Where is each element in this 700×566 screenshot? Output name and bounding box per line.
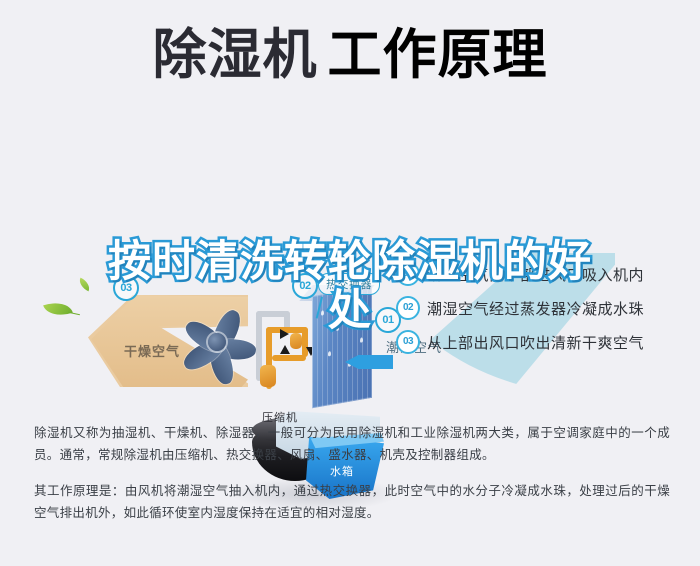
dry-air-label: 干燥空气 <box>124 341 180 360</box>
body-copy: 除湿机又称为抽湿机、干燥机、除湿器，一般可分为民用除湿机和工业除湿机两大类，属于… <box>34 422 670 532</box>
callout-tail-icon <box>330 291 340 298</box>
leaf-icon <box>77 278 93 292</box>
leaf-icon <box>43 297 73 320</box>
refrigerant-coil <box>256 311 320 403</box>
badge-03-illustration: 03 <box>113 275 139 301</box>
legend-text-03: 从上部出风口吹出清新干爽空气 <box>427 332 644 353</box>
evaporator-block <box>312 286 372 409</box>
legend-text-01: 潮湿空气由下部进风口吸入机内 <box>427 264 644 285</box>
legend-list: 01 潮湿空气由下部进风口吸入机内 02 潮湿空气经过蒸发器冷凝成水珠 03 从… <box>396 257 696 359</box>
legend-item: 02 潮湿空气经过蒸发器冷凝成水珠 <box>396 291 696 325</box>
page-title-part1: 除湿机 <box>153 25 318 85</box>
body-paragraph-2: 其工作原理是：由风机将潮湿空气抽入机内，通过热交换器，此时空气中的水分子冷凝成水… <box>34 480 670 524</box>
fan-hub <box>208 333 226 351</box>
legend-badge-03: 03 <box>396 330 420 354</box>
page-title-part2: 工作原理 <box>328 25 548 85</box>
legend-badge-01: 01 <box>396 262 420 286</box>
legend-badge-02: 02 <box>396 296 420 320</box>
coil-pipe <box>272 355 306 361</box>
flow-arrow-right-icon <box>280 329 289 339</box>
body-paragraph-1: 除湿机又称为抽湿机、干燥机、除湿器，一般可分为民用除湿机和工业除湿机两大类，属于… <box>34 422 670 466</box>
legend-item: 01 潮湿空气由下部进风口吸入机内 <box>396 257 696 291</box>
coil-valve <box>260 365 276 387</box>
legend-text-02: 潮湿空气经过蒸发器冷凝成水珠 <box>427 298 644 319</box>
page-title: 除湿机工作原理 <box>0 28 700 82</box>
evaporator-fins <box>312 286 372 409</box>
badge-02-illustration: 02 <box>292 273 318 299</box>
fan-icon <box>178 303 268 387</box>
infographic-page: 除湿机工作原理 干燥空气 03 潮湿空气 01 <box>0 0 700 566</box>
heat-exchanger-callout: 热交换器 <box>318 273 380 295</box>
coil-valve <box>290 333 302 349</box>
flow-arrow-up-icon <box>280 345 290 354</box>
legend-item: 03 从上部出风口吹出清新干爽空气 <box>396 325 696 359</box>
